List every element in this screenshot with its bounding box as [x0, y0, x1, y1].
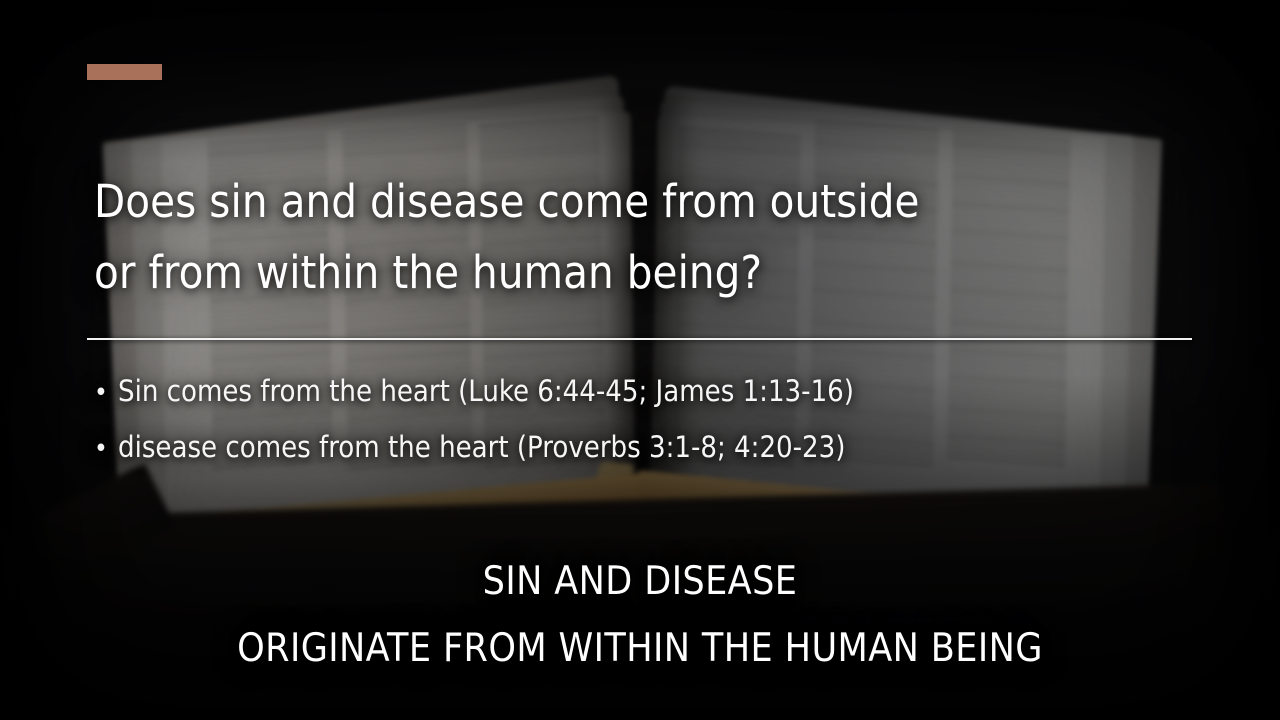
bullet-item: • disease comes from the heart (Proverbs… — [94, 433, 1194, 462]
bullet-item-text: Sin comes from the heart (Luke 6:44-45; … — [118, 377, 1194, 406]
bullet-item: • Sin comes from the heart (Luke 6:44-45… — [94, 377, 1194, 406]
caption-line-1: SIN AND DISEASE — [0, 548, 1280, 615]
bullet-marker-icon: • — [94, 436, 118, 462]
slide-caption: SIN AND DISEASE ORIGINATE FROM WITHIN TH… — [0, 548, 1280, 682]
title-divider-rule — [87, 338, 1192, 340]
slide-content: Does sin and disease come from outside o… — [0, 0, 1280, 720]
accent-bar — [87, 64, 162, 80]
presentation-slide: Does sin and disease come from outside o… — [0, 0, 1280, 720]
bullet-marker-icon: • — [94, 380, 118, 406]
bullet-item-text: disease comes from the heart (Proverbs 3… — [118, 433, 1194, 462]
caption-line-2: ORIGINATE FROM WITHIN THE HUMAN BEING — [0, 615, 1280, 682]
slide-title: Does sin and disease come from outside o… — [94, 166, 1194, 308]
bullet-list: • Sin comes from the heart (Luke 6:44-45… — [94, 377, 1194, 489]
